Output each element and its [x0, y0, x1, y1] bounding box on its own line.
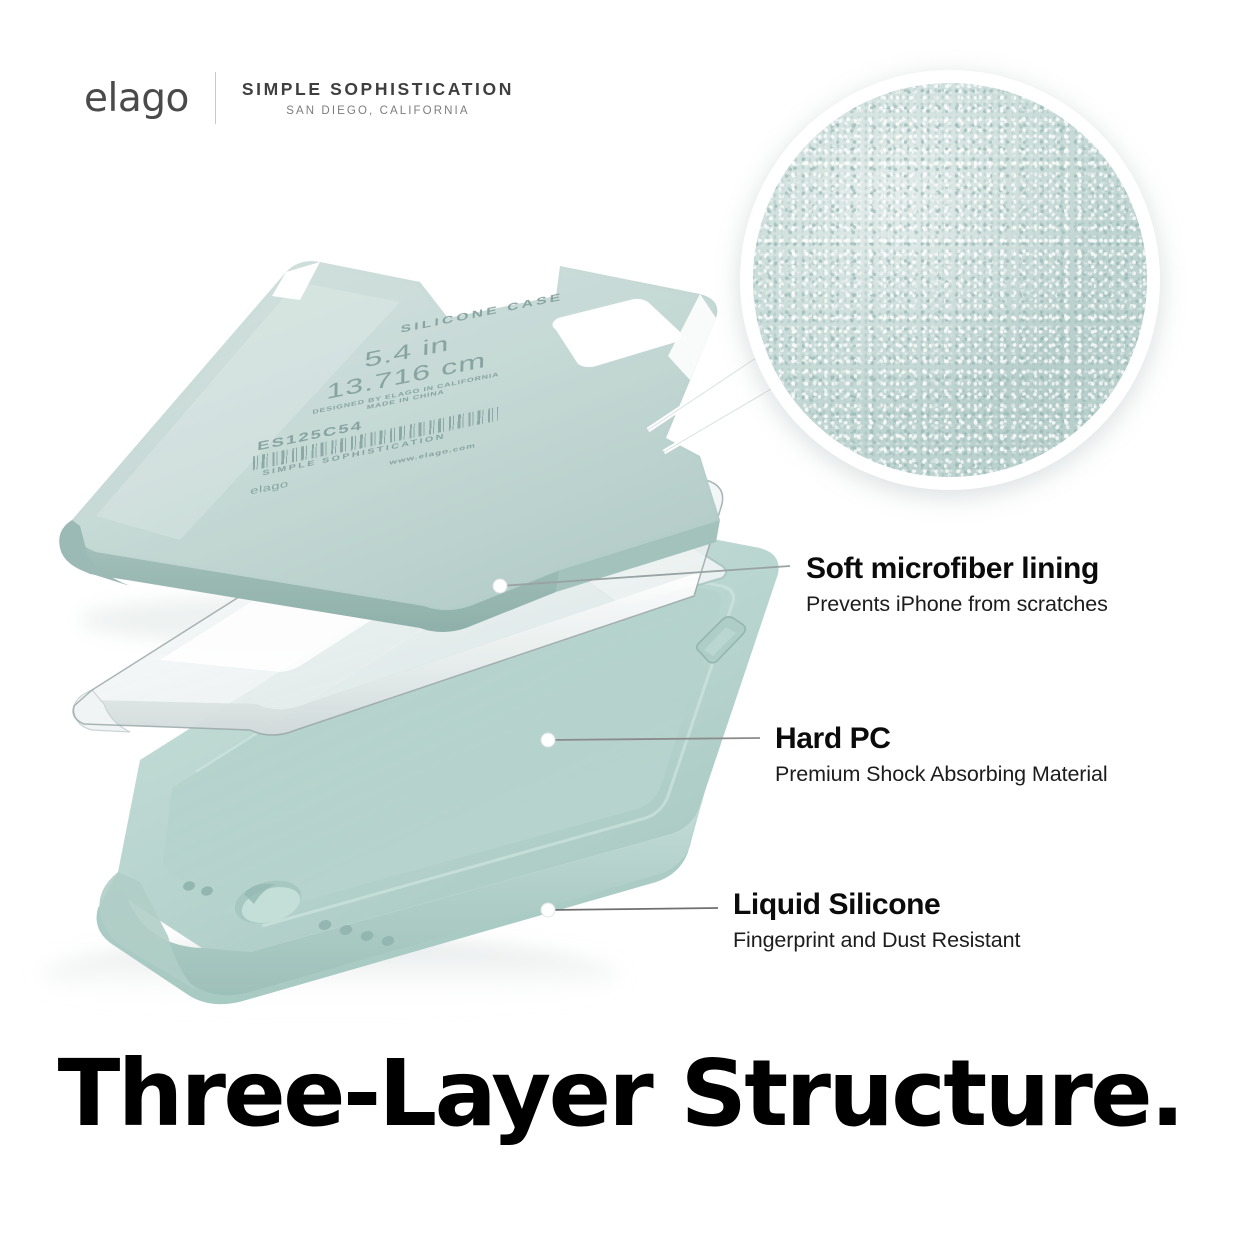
- microfiber-magnifier-circle: [740, 70, 1160, 490]
- callout-subtitle: Premium Shock Absorbing Material: [775, 761, 1108, 789]
- callout-soft-microfiber-lining: Soft microfiber lining Prevents iPhone f…: [806, 552, 1108, 619]
- page-headline: Three-Layer Structure.: [0, 1048, 1240, 1140]
- callout-title: Soft microfiber lining: [806, 552, 1108, 586]
- callout-liquid-silicone: Liquid Silicone Fingerprint and Dust Res…: [733, 888, 1020, 955]
- callout-hard-pc: Hard PC Premium Shock Absorbing Material: [775, 722, 1108, 789]
- callout-title: Liquid Silicone: [733, 888, 1020, 922]
- callout-subtitle: Fingerprint and Dust Resistant: [733, 927, 1020, 955]
- microfiber-texture-swatch: [753, 83, 1147, 477]
- callout-title: Hard PC: [775, 722, 1108, 756]
- callout-subtitle: Prevents iPhone from scratches: [806, 591, 1108, 619]
